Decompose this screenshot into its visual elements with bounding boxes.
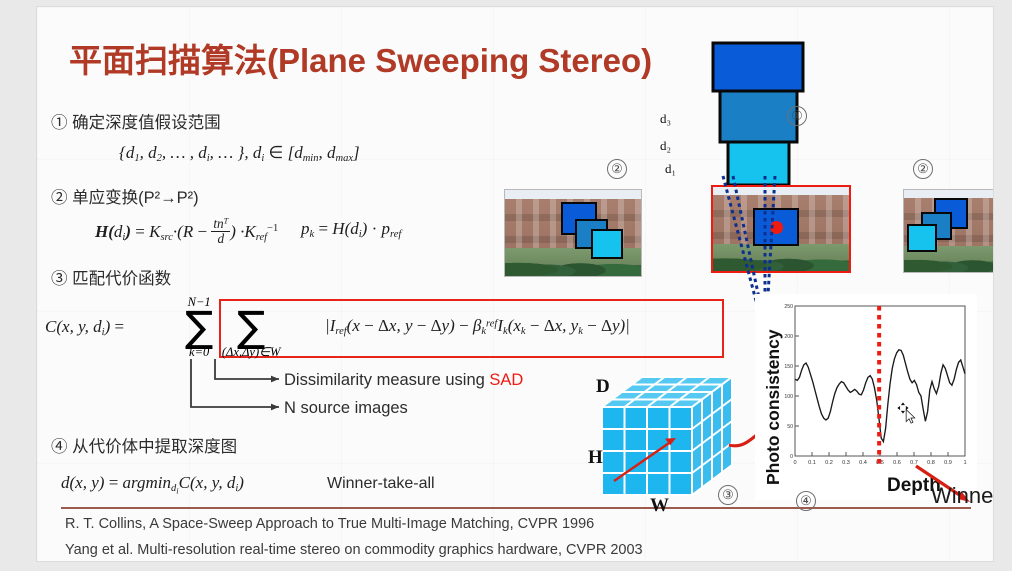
svg-text:0.2: 0.2: [825, 460, 833, 466]
svg-text:0.4: 0.4: [859, 460, 867, 466]
svg-text:200: 200: [784, 334, 793, 340]
cube-label-depth: D: [596, 376, 610, 398]
formula-argmin: d(x, y) = argmindiC(x, y, di): [61, 473, 244, 495]
frustum-plane-label-d1: d₁: [665, 161, 676, 177]
annotation-n-source-images: N source images: [284, 399, 408, 418]
frustum-plane-label-d2: d₂: [660, 138, 671, 154]
badge-source-left-2: ②: [607, 159, 627, 179]
slide-canvas: 平面扫描算法(Plane Sweeping Stereo) ① 确定深度值假设范…: [36, 6, 994, 562]
svg-text:250: 250: [784, 304, 793, 310]
source-image-right: [903, 189, 994, 273]
sum-outer-upper: N−1: [188, 295, 211, 310]
svg-text:0.3: 0.3: [842, 460, 850, 466]
citation-2: Yang et al. Multi-resolution real-time s…: [65, 542, 643, 558]
formula-cost-lhs: C(x, y, di) =: [45, 317, 124, 338]
step-4-label: 从代价体中提取深度图: [72, 438, 237, 456]
plot-y-axis-label: Photo consistency: [763, 329, 784, 485]
step-1: ① 确定深度值假设范围: [51, 109, 221, 133]
sum-outer: N−1 ∑ k=0: [185, 310, 213, 345]
badge-frustum-1: ①: [787, 106, 807, 126]
annotation-dissimilarity-text: Dissimilarity measure using: [284, 371, 489, 389]
step-2: ② 单应变换(P²→P²): [51, 184, 199, 208]
svg-text:0: 0: [793, 460, 796, 466]
step-1-label: 确定深度值假设范围: [72, 114, 221, 132]
step-3: ③ 匹配代价函数: [51, 265, 171, 289]
step-3-marker: ③: [51, 270, 68, 288]
annotation-sad-metric: SAD: [489, 371, 523, 389]
sum-inner: ∑ (Δx,Δy)∈W: [237, 310, 265, 345]
source-image-left-patch-d1: [591, 229, 623, 259]
source-image-right-patch-d1: [907, 224, 937, 252]
cube-label-height: H: [588, 447, 603, 469]
page-title: 平面扫描算法(Plane Sweeping Stereo): [69, 34, 652, 82]
label-winner: Winner: [931, 483, 994, 509]
label-winner-take-all: Winner-take-all: [327, 475, 435, 493]
step-1-marker: ①: [51, 114, 68, 132]
badge-plot-4: ④: [796, 491, 816, 511]
svg-text:0.6: 0.6: [893, 460, 901, 466]
frustum-plane-label-d3: d₃: [660, 111, 671, 127]
formula-homography: H(di) = Ksrc·(R − tnTd) ·Kref−1: [95, 217, 278, 246]
svg-text:100: 100: [784, 394, 793, 400]
step-2-marker: ②: [51, 189, 68, 207]
step-4: ④ 从代价体中提取深度图: [51, 433, 237, 457]
citation-1: R. T. Collins, A Space-Sweep Approach to…: [65, 516, 594, 532]
cube-label-width: W: [650, 495, 669, 517]
source-image-left: [504, 189, 642, 277]
callout-arrows: [187, 357, 297, 415]
step-4-marker: ④: [51, 438, 68, 456]
step-2-label: 单应变换(P²→P²): [72, 189, 199, 207]
footer-divider: [61, 507, 971, 509]
formula-point-map: pk = H(di) · pref: [301, 219, 401, 240]
svg-text:0.1: 0.1: [808, 460, 816, 466]
svg-text:50: 50: [787, 424, 793, 430]
svg-text:150: 150: [784, 364, 793, 370]
formula-depth-range: {d1, d2, … , di, … }, di ∈ [dmin, dmax]: [119, 143, 360, 164]
formula-cost-body: |Iref(x − Δx, y − Δy) − βkrefIk(xk − Δx,…: [325, 316, 630, 337]
annotation-dissimilarity: Dissimilarity measure using SAD: [284, 371, 523, 390]
badge-source-right-2: ②: [913, 159, 933, 179]
step-3-label: 匹配代价函数: [72, 270, 171, 288]
badge-cost-volume-3: ③: [718, 485, 738, 505]
